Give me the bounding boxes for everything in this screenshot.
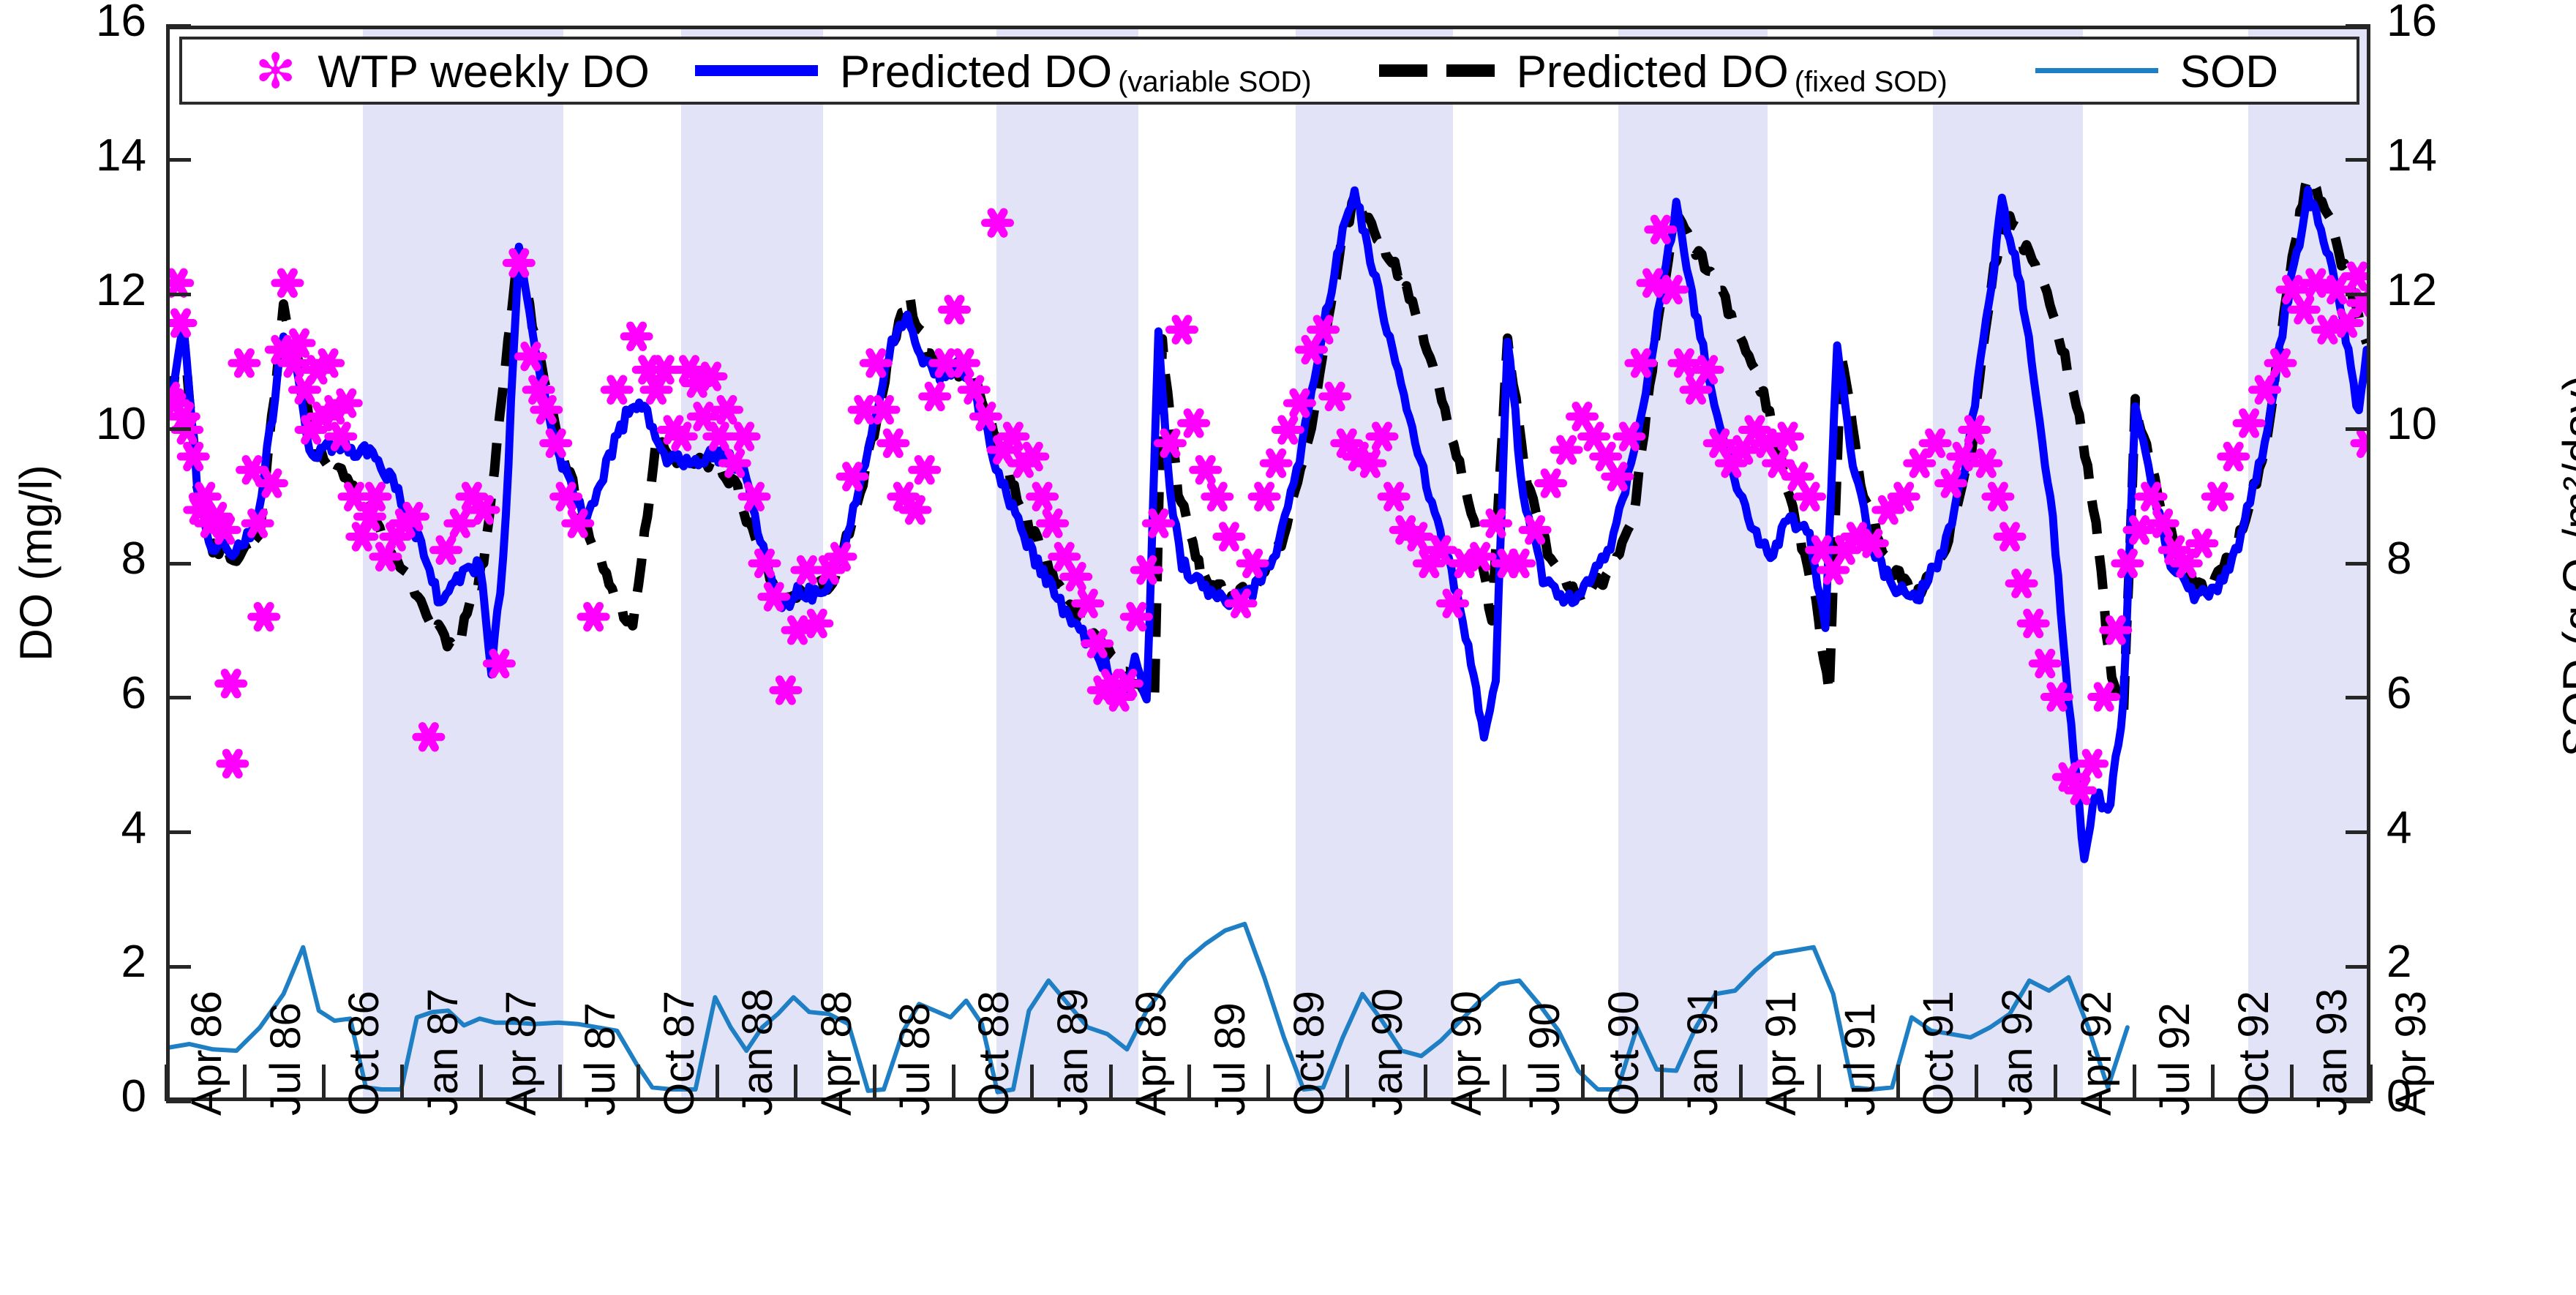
- wtp-weekly-do-marker: [699, 366, 724, 387]
- wtp-weekly-do-marker: [1252, 486, 1277, 508]
- wtp-weekly-do-marker: [961, 379, 986, 401]
- wtp-weekly-do-marker: [1146, 513, 1171, 535]
- wtp-weekly-do-marker: [863, 353, 888, 375]
- wtp-weekly-do-marker: [245, 513, 270, 535]
- x-axis-tick-label: Jan 88: [733, 988, 782, 1116]
- y-axis-left-tick: [166, 562, 191, 566]
- wtp-weekly-do-marker: [1962, 419, 1987, 440]
- wtp-weekly-do-marker: [840, 466, 865, 487]
- wtp-weekly-do-marker: [923, 386, 947, 407]
- wtp-weekly-do-marker: [416, 727, 441, 748]
- wtp-weekly-do-marker: [1605, 466, 1630, 487]
- wtp-weekly-do-marker: [581, 606, 606, 627]
- y-axis-left-tick: [166, 293, 191, 296]
- wtp-weekly-do-marker: [518, 345, 543, 367]
- wtp-weekly-do-marker: [985, 212, 1010, 233]
- wtp-weekly-do-marker: [828, 546, 853, 567]
- y-axis-left-tick: [166, 24, 191, 28]
- wtp-weekly-do-marker: [1114, 673, 1139, 695]
- y-axis-left-tick: [166, 696, 191, 699]
- x-axis-tick-label: Oct 88: [969, 991, 1018, 1116]
- wtp-weekly-do-marker: [1522, 519, 1547, 541]
- x-axis-tick-label: Apr 87: [497, 991, 546, 1116]
- x-axis-tick-label: Oct 91: [1914, 991, 1963, 1116]
- wtp-weekly-do-marker: [448, 513, 473, 535]
- wtp-weekly-do-marker: [554, 486, 579, 508]
- x-axis-tick: [637, 1065, 640, 1101]
- legend-item-solid-teal-line[interactable]: SOD: [2035, 40, 2278, 102]
- x-axis-tick-label: Jul 87: [576, 1002, 625, 1116]
- wtp-weekly-do-marker: [1240, 552, 1265, 574]
- x-axis-tick: [1739, 1065, 1743, 1101]
- wtp-weekly-do-marker: [1554, 439, 1579, 460]
- wtp-weekly-do-marker: [715, 399, 740, 420]
- wtp-weekly-do-marker: [219, 673, 244, 695]
- y-axis-left-tick-label: 4: [7, 802, 146, 854]
- figure-root: DO (mg/l) SOD (g O2/m²/day) ✻WTP weekly …: [0, 0, 2576, 1295]
- x-axis-tick: [400, 1065, 404, 1101]
- y-axis-left-tick-label: 14: [7, 129, 146, 181]
- dashed-black-line-swatch: [1379, 64, 1495, 77]
- wtp-weekly-do-marker: [881, 432, 906, 454]
- wtp-weekly-do-marker: [1507, 552, 1532, 574]
- wtp-weekly-do-marker: [1021, 446, 1045, 467]
- x-axis-tick-label: Jan 87: [418, 988, 467, 1116]
- x-axis-tick: [1896, 1065, 1900, 1101]
- x-axis-tick: [243, 1065, 247, 1101]
- x-axis-tick-label: Apr 88: [812, 991, 861, 1116]
- y-axis-left-tick-label: 10: [7, 398, 146, 450]
- x-axis-tick-label: Jan 92: [1993, 988, 2042, 1116]
- right-axis-title: SOD (g O2/m²/day): [2553, 310, 2576, 822]
- wtp-weekly-do-marker: [1064, 566, 1089, 588]
- wtp-weekly-do-marker: [1923, 432, 1948, 454]
- x-axis-tick-label: Jan 93: [2307, 988, 2357, 1116]
- x-axis-tick: [1187, 1065, 1191, 1101]
- wtp-weekly-do-marker: [1030, 486, 1055, 508]
- wtp-weekly-do-marker: [1157, 432, 1182, 454]
- wtp-weekly-do-marker: [275, 272, 300, 294]
- wtp-weekly-do-marker: [1648, 219, 1673, 241]
- x-axis-tick: [1660, 1065, 1664, 1101]
- y-axis-left-tick-label: 2: [7, 936, 146, 988]
- wtp-weekly-do-marker: [1468, 546, 1492, 567]
- x-axis-tick-label: Apr 93: [2387, 991, 2436, 1116]
- wtp-weekly-do-marker: [604, 379, 629, 401]
- wtp-weekly-do-marker: [328, 426, 353, 447]
- series-layer: [170, 29, 2367, 1097]
- y-axis-right-tick-label: 16: [2387, 0, 2526, 47]
- x-axis-tick-label: Jul 91: [1836, 1002, 1885, 1116]
- wtp-weekly-do-marker: [1441, 593, 1465, 615]
- wtp-weekly-do-marker: [624, 326, 649, 348]
- wtp-weekly-do-marker: [1001, 426, 1026, 447]
- wtp-weekly-do-marker: [1766, 452, 1791, 473]
- x-axis-tick-label: Apr 89: [1127, 991, 1176, 1116]
- wtp-weekly-do-marker: [2205, 486, 2230, 508]
- legend-label: SOD: [2180, 43, 2278, 102]
- wtp-weekly-do-marker: [2080, 753, 2105, 775]
- y-axis-right-tick-label: 2: [2387, 936, 2526, 988]
- wtp-weekly-do-marker: [1275, 419, 1300, 440]
- y-axis-left-tick: [166, 830, 191, 834]
- wtp-weekly-do-marker: [2068, 780, 2093, 802]
- magenta-star-icon: ✻: [255, 49, 296, 93]
- x-axis-tick: [2054, 1065, 2057, 1101]
- wtp-weekly-do-marker: [1660, 279, 1685, 300]
- wtp-weekly-do-marker: [170, 312, 193, 334]
- x-axis-tick: [165, 1065, 168, 1101]
- wtp-weekly-do-marker: [2115, 552, 2140, 574]
- wtp-weekly-do-marker: [2268, 353, 2293, 375]
- y-axis-left-tick-label: 6: [7, 667, 146, 719]
- x-axis-tick-label: Oct 86: [339, 991, 388, 1116]
- legend-sublabel: (variable SOD): [1118, 62, 1312, 102]
- wtp-weekly-do-marker: [363, 486, 388, 508]
- x-axis-tick: [2211, 1065, 2215, 1101]
- x-axis-tick-label: Apr 92: [2072, 991, 2121, 1116]
- wtp-weekly-do-marker: [1358, 452, 1383, 473]
- wtp-weekly-do-marker: [2345, 266, 2367, 287]
- wtp-weekly-do-marker: [1311, 319, 1336, 340]
- y-axis-right-tick: [2346, 24, 2370, 28]
- x-axis-tick-label: Jul 90: [1520, 1002, 1569, 1116]
- wtp-weekly-do-marker: [181, 446, 206, 467]
- y-axis-right-tick-label: 6: [2387, 667, 2526, 719]
- x-axis-tick: [1975, 1065, 1978, 1101]
- wtp-weekly-do-marker: [1193, 459, 1218, 481]
- y-axis-right-tick-label: 10: [2387, 398, 2526, 450]
- wtp-weekly-do-marker: [2092, 686, 2117, 707]
- wtp-weekly-do-marker: [669, 426, 694, 447]
- wtp-weekly-do-marker: [752, 552, 777, 574]
- legend-sublabel: (fixed SOD): [1795, 62, 1948, 102]
- y-axis-left-tick-label: 8: [7, 533, 146, 585]
- x-axis-tick: [1109, 1065, 1113, 1101]
- wtp-weekly-do-marker: [1974, 452, 1999, 473]
- predicted-do-variable-sod-line: [170, 189, 2367, 859]
- plot-area: [166, 26, 2370, 1101]
- wtp-weekly-do-marker: [1217, 526, 1242, 547]
- y-axis-left-tick-label: 0: [7, 1070, 146, 1122]
- wtp-weekly-do-marker: [1323, 386, 1348, 407]
- legend: ✻WTP weekly DOPredicted DO(variable SOD)…: [179, 37, 2359, 105]
- legend-label: Predicted DO: [1517, 43, 1789, 102]
- wtp-weekly-do-marker: [1124, 606, 1149, 627]
- x-axis-tick-label: Oct 92: [2229, 991, 2278, 1116]
- solid-teal-line-swatch: [2035, 68, 2158, 73]
- x-axis-tick: [322, 1065, 326, 1101]
- wtp-weekly-do-marker: [2150, 513, 2175, 535]
- wtp-weekly-do-marker: [316, 353, 341, 375]
- y-axis-right-tick: [2346, 830, 2370, 834]
- wtp-weekly-do-marker: [2253, 379, 2278, 401]
- x-axis-tick: [1424, 1065, 1427, 1101]
- wtp-weekly-do-marker: [1370, 426, 1394, 447]
- wtp-weekly-do-marker: [373, 546, 398, 567]
- x-axis-tick-label: Oct 89: [1285, 991, 1334, 1116]
- x-axis-tick: [794, 1065, 797, 1101]
- y-axis-left-tick: [166, 427, 191, 431]
- x-axis-tick-label: Apr 90: [1442, 991, 1491, 1116]
- wtp-weekly-do-marker: [1860, 533, 1885, 554]
- wtp-weekly-do-marker: [1134, 559, 1159, 580]
- wtp-weekly-do-marker: [232, 353, 257, 375]
- y-axis-left-tick: [166, 965, 191, 969]
- legend-label: WTP weekly DO: [318, 43, 650, 102]
- legend-item-dashed-black-line[interactable]: Predicted DO(fixed SOD): [1379, 40, 1948, 102]
- wtp-weekly-do-marker: [401, 506, 426, 527]
- wtp-weekly-do-marker: [2237, 413, 2261, 434]
- y-axis-left-tick: [166, 158, 191, 162]
- wtp-weekly-do-marker: [1428, 539, 1453, 561]
- wtp-weekly-do-marker: [334, 392, 358, 413]
- x-axis-tick: [1266, 1065, 1270, 1101]
- wtp-weekly-do-marker: [805, 612, 830, 634]
- x-axis-tick: [952, 1065, 955, 1101]
- wtp-weekly-do-marker: [1776, 426, 1800, 447]
- wtp-weekly-do-marker: [240, 459, 265, 481]
- wtp-weekly-do-marker: [487, 653, 511, 674]
- wtp-weekly-do-marker: [773, 680, 798, 701]
- y-axis-right-tick: [2346, 562, 2370, 566]
- wtp-weekly-do-marker: [1617, 426, 1642, 447]
- wtp-weekly-do-marker: [287, 332, 312, 353]
- wtp-weekly-do-marker: [1939, 473, 1964, 494]
- wtp-weekly-do-marker: [1040, 513, 1065, 535]
- x-axis-tick-label: Jul 89: [1206, 1002, 1255, 1116]
- y-axis-right-tick: [2346, 965, 2370, 969]
- x-axis-tick: [1503, 1065, 1506, 1101]
- wtp-weekly-do-marker: [762, 586, 786, 607]
- x-axis-tick: [1817, 1065, 1821, 1101]
- wtp-weekly-do-marker: [742, 486, 767, 508]
- wtp-weekly-do-marker: [1891, 486, 1916, 508]
- wtp-weekly-do-marker: [1381, 486, 1406, 508]
- wtp-weekly-do-marker: [544, 432, 568, 454]
- wtp-weekly-do-marker: [951, 353, 976, 375]
- x-axis-tick-label: Oct 90: [1599, 991, 1648, 1116]
- wtp-weekly-do-marker: [1182, 413, 1206, 434]
- y-axis-right-tick: [2346, 293, 2370, 296]
- x-axis-tick: [716, 1065, 719, 1101]
- wtp-weekly-do-marker: [1695, 359, 1720, 380]
- wtp-weekly-do-marker: [2103, 620, 2128, 642]
- x-axis-tick: [479, 1065, 483, 1101]
- x-axis-tick: [1345, 1065, 1349, 1101]
- x-axis-tick: [2133, 1065, 2136, 1101]
- wtp-weekly-do-marker: [871, 399, 896, 420]
- wtp-weekly-do-marker: [259, 473, 284, 494]
- y-axis-left-tick-label: 12: [7, 264, 146, 316]
- wtp-weekly-do-marker: [732, 426, 756, 447]
- wtp-weekly-do-marker: [2032, 653, 2057, 674]
- right-axis-title-post: /m²/day): [2554, 375, 2576, 541]
- wtp-weekly-do-marker: [2044, 686, 2069, 707]
- wtp-weekly-do-marker: [1263, 452, 1288, 473]
- y-axis-right-tick-label: 4: [2387, 802, 2526, 854]
- y-axis-right-tick: [2346, 158, 2370, 162]
- solid-blue-line-swatch: [695, 65, 818, 76]
- y-axis-right-tick-label: 14: [2387, 129, 2526, 181]
- x-axis-tick: [558, 1065, 562, 1101]
- wtp-weekly-do-marker: [1287, 392, 1312, 413]
- legend-item-solid-blue-line[interactable]: Predicted DO(variable SOD): [695, 40, 1312, 102]
- x-axis-tick: [1581, 1065, 1585, 1101]
- wtp-weekly-do-marker: [942, 299, 967, 321]
- y-axis-right-tick: [2346, 696, 2370, 699]
- wtp-weekly-do-marker: [506, 252, 531, 274]
- x-axis-tick: [873, 1065, 876, 1101]
- wtp-weekly-do-marker: [2221, 446, 2246, 467]
- x-axis-tick-label: Jul 92: [2150, 1002, 2199, 1116]
- wtp-weekly-do-marker: [1539, 473, 1563, 494]
- wtp-weekly-do-marker: [1629, 353, 1653, 375]
- wtp-weekly-do-marker: [1075, 593, 1100, 615]
- wtp-weekly-do-marker: [212, 519, 237, 541]
- wtp-weekly-do-marker: [1085, 633, 1110, 654]
- wtp-weekly-do-marker: [1205, 486, 1230, 508]
- x-axis-tick: [1030, 1065, 1034, 1101]
- x-axis-tick-label: Oct 87: [655, 991, 704, 1116]
- x-axis-tick-label: Apr 86: [182, 991, 231, 1116]
- y-axis-right-tick-label: 12: [2387, 264, 2526, 316]
- wtp-weekly-do-marker: [2190, 533, 2215, 554]
- x-axis-tick: [2290, 1065, 2294, 1101]
- x-axis-tick-label: Jul 86: [261, 1002, 310, 1116]
- legend-label: Predicted DO: [840, 43, 1112, 102]
- right-axis-title-pre: SOD (g O: [2554, 558, 2576, 757]
- wtp-weekly-do-marker: [252, 606, 277, 627]
- wtp-weekly-do-marker: [434, 539, 459, 561]
- wtp-weekly-do-marker: [1170, 319, 1195, 340]
- y-axis-left-tick-label: 16: [7, 0, 146, 47]
- wtp-weekly-do-marker: [2021, 612, 2046, 634]
- wtp-weekly-do-marker: [1798, 486, 1822, 508]
- x-axis-tick-label: Jul 88: [890, 1002, 939, 1116]
- wtp-weekly-do-marker: [1228, 593, 1253, 615]
- x-axis-tick-label: Jan 90: [1363, 988, 1412, 1116]
- wtp-weekly-do-marker: [2009, 573, 2034, 594]
- wtp-weekly-do-marker: [1484, 513, 1509, 535]
- wtp-weekly-do-markers: [170, 212, 2367, 801]
- wtp-weekly-do-marker: [534, 399, 559, 420]
- wtp-weekly-do-marker: [722, 452, 747, 473]
- wtp-weekly-do-marker: [220, 753, 245, 775]
- wtp-weekly-do-marker: [566, 513, 590, 535]
- y-axis-right-tick: [2346, 427, 2370, 431]
- wtp-weekly-do-marker: [170, 272, 190, 294]
- wtp-weekly-do-marker: [2354, 432, 2367, 454]
- wtp-weekly-do-marker: [2138, 486, 2163, 508]
- wtp-weekly-do-marker: [2291, 299, 2316, 321]
- wtp-weekly-do-marker: [1986, 486, 2010, 508]
- wtp-weekly-do-marker: [973, 406, 998, 428]
- wtp-weekly-do-marker: [1997, 526, 2022, 547]
- wtp-weekly-do-marker: [2324, 279, 2349, 300]
- wtp-weekly-do-marker: [1405, 526, 1430, 547]
- x-axis-tick-label: Jan 89: [1048, 988, 1097, 1116]
- wtp-weekly-do-marker: [471, 499, 496, 520]
- x-axis-tick-label: Apr 91: [1757, 991, 1806, 1116]
- wtp-weekly-do-marker: [912, 459, 937, 481]
- wtp-weekly-do-marker: [903, 499, 928, 520]
- x-axis-tick-label: Jan 91: [1678, 988, 1727, 1116]
- x-axis-tick: [2369, 1065, 2373, 1101]
- y-axis-right-tick-label: 8: [2387, 533, 2526, 585]
- legend-item-magenta-star-marker[interactable]: ✻WTP weekly DO: [255, 40, 650, 102]
